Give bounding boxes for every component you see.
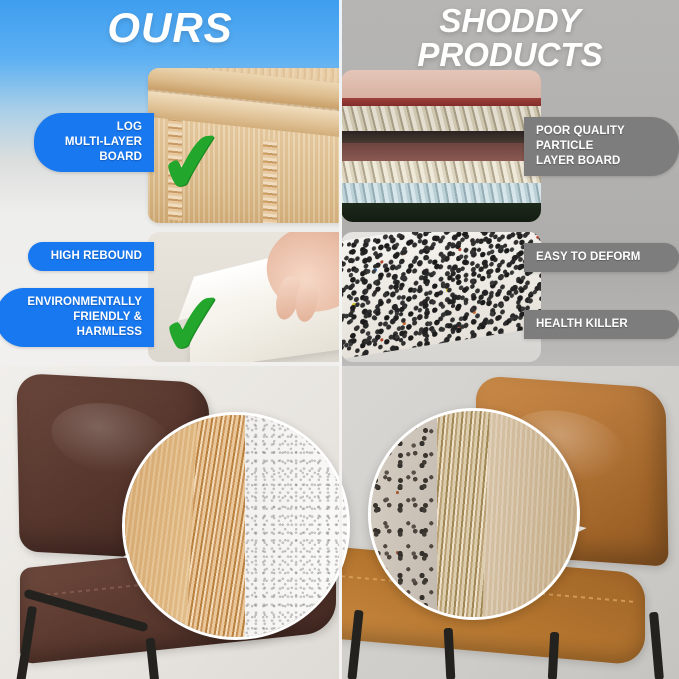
particle-layer-1 bbox=[341, 70, 541, 100]
particle-layer-board-photo bbox=[341, 70, 541, 222]
particle-layer-5 bbox=[341, 143, 541, 163]
badge-health-killer: HEALTH KILLER bbox=[524, 310, 679, 339]
panel-divider bbox=[339, 0, 342, 366]
chair-leg-rear-left bbox=[548, 632, 559, 679]
ours-panel: OURS ✔ ✔ LOGMULTI-LAYE bbox=[0, 0, 340, 366]
comparison-section: OURS ✔ ✔ LOGMULTI-LAYE bbox=[0, 0, 679, 366]
particle-layer-6 bbox=[341, 161, 541, 185]
plywood-layer-edge-b bbox=[263, 139, 277, 223]
ours-headline: OURS bbox=[0, 7, 340, 50]
badge-high-rebound: HIGH REBOUND bbox=[28, 242, 154, 271]
inset-foam-speckle bbox=[245, 415, 347, 637]
particle-layer-8-base bbox=[341, 203, 541, 222]
product-comparison-infographic: OURS ✔ ✔ LOGMULTI-LAYE bbox=[0, 0, 679, 679]
particle-board-frame-detail-inset bbox=[368, 408, 580, 620]
inset-particle-chips bbox=[371, 411, 437, 617]
badge-environmentally-friendly-harmless: ENVIRONMENTALLYFRIENDLY &HARMLESS bbox=[0, 288, 154, 347]
green-check-mark: ✔ bbox=[155, 117, 230, 209]
showcase-divider bbox=[339, 366, 342, 679]
particle-layer-3 bbox=[341, 106, 541, 132]
badge-easy-to-deform: EASY TO DEFORM bbox=[524, 243, 679, 272]
badge-log-multi-layer-board: LOGMULTI-LAYERBOARD bbox=[34, 113, 154, 172]
particle-layer-7 bbox=[341, 183, 541, 205]
badge-poor-quality-particle-layer-board: POOR QUALITYPARTICLELAYER BOARD bbox=[524, 117, 679, 176]
shredded-particle-foam-photo bbox=[341, 232, 541, 362]
chair-leg-rear-right bbox=[649, 612, 664, 679]
green-check-mark: ✔ bbox=[156, 279, 231, 366]
plywood-frame-detail-inset bbox=[122, 412, 350, 640]
shoddy-headline: SHODDYPRODUCTS bbox=[341, 4, 679, 71]
